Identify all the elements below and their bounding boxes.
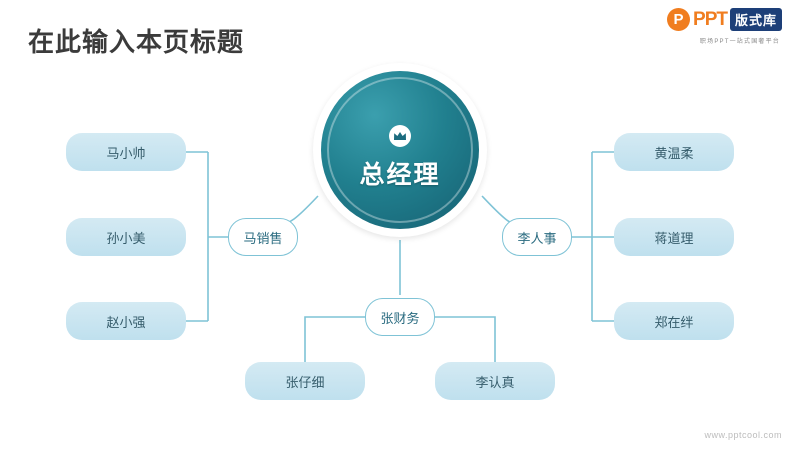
node-sales-child-3-label: 赵小强	[106, 312, 145, 331]
node-hr-child-1[interactable]: 黄温柔	[614, 133, 734, 171]
node-sales-label: 马销售	[243, 228, 282, 247]
node-finance-child-2[interactable]: 李认真	[435, 362, 555, 400]
center-node[interactable]: 总经理	[313, 63, 487, 237]
slide-canvas: 在此输入本页标题 P PPT 版式库 职场PPT一站式国奢平台	[0, 0, 800, 450]
node-finance[interactable]: 张财务	[365, 298, 435, 336]
node-hr-child-2-label: 蒋道理	[654, 228, 693, 247]
node-sales-child-2-label: 孙小美	[106, 228, 145, 247]
node-sales-child-3[interactable]: 赵小强	[66, 302, 186, 340]
center-node-ring: 总经理	[321, 71, 479, 229]
node-hr-child-3-label: 郑在绊	[654, 312, 693, 331]
node-finance-child-1-label: 张仔细	[285, 372, 324, 391]
node-hr[interactable]: 李人事	[502, 218, 572, 256]
center-node-label: 总经理	[321, 155, 479, 191]
watermark: www.pptcool.com	[704, 430, 782, 440]
node-finance-child-1[interactable]: 张仔细	[245, 362, 365, 400]
node-finance-label: 张财务	[380, 308, 419, 327]
node-sales-child-1-label: 马小帅	[106, 143, 145, 162]
node-sales-child-2[interactable]: 孙小美	[66, 218, 186, 256]
node-sales[interactable]: 马销售	[228, 218, 298, 256]
node-hr-child-1-label: 黄温柔	[654, 143, 693, 162]
node-hr-child-3[interactable]: 郑在绊	[614, 302, 734, 340]
node-hr-child-2[interactable]: 蒋道理	[614, 218, 734, 256]
crown-icon	[389, 125, 411, 147]
node-hr-label: 李人事	[517, 228, 556, 247]
node-sales-child-1[interactable]: 马小帅	[66, 133, 186, 171]
node-finance-child-2-label: 李认真	[475, 372, 514, 391]
